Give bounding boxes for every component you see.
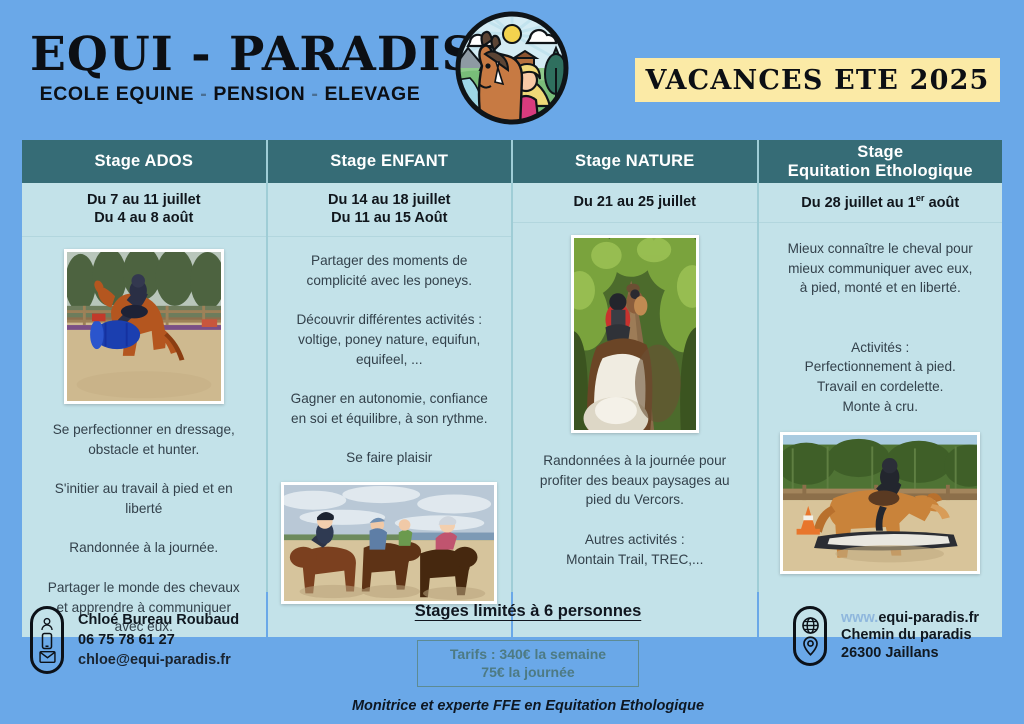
- photo-children-on-ponies: [281, 482, 497, 604]
- stage-column-enfant: Stage ENFANT Du 14 au 18 juillet Du 11 a…: [268, 140, 512, 637]
- column-body-ados: Se perfectionner en dressage, obstacle e…: [22, 237, 266, 637]
- brand-subtitle-part-2: PENSION: [213, 83, 305, 105]
- brand-subtitle: ECOLE EQUINE - PENSION - ELEVAGE: [30, 83, 430, 106]
- contact-block: Chloé Bureau Roubaud 06 75 78 61 27 chlo…: [30, 606, 239, 674]
- envelope-icon: [39, 650, 56, 664]
- column-header-line-2: Equitation Ethologique: [788, 162, 973, 180]
- column-body-enfant: Partager des moments de complicité avec …: [268, 237, 512, 637]
- tarif-box: Tarifs : 340€ la semaine 75€ la journée: [417, 640, 639, 687]
- globe-icon: [801, 616, 820, 635]
- season-banner-text: VACANCES ETE 2025: [645, 65, 989, 96]
- address-line-1: Chemin du paradis: [841, 626, 979, 644]
- contact-text-lines: Chloé Bureau Roubaud 06 75 78 61 27 chlo…: [78, 606, 239, 674]
- stages-table: Stage ADOS Du 7 au 11 juillet Du 4 au 8 …: [22, 140, 1002, 592]
- stage-column-ados: Stage ADOS Du 7 au 11 juillet Du 4 au 8 …: [22, 140, 266, 637]
- photo-forest-trail-ride: [571, 235, 699, 433]
- photo-jumping-blue-barrel: [64, 249, 224, 404]
- date-line: Du 28 juillet au 1er août: [763, 192, 999, 212]
- date-line: Du 21 au 25 juillet: [517, 193, 753, 211]
- column-header-enfant: Stage ENFANT: [268, 140, 512, 183]
- brand-title: EQUI - PARADIS: [30, 30, 430, 79]
- horse-and-girl-circular-logo: [452, 8, 572, 128]
- contact-name: Chloé Bureau Roubaud: [78, 613, 239, 628]
- address-line-2: 26300 Jaillans: [841, 644, 979, 662]
- brand-block: EQUI - PARADIS ECOLE EQUINE - PENSION - …: [30, 30, 430, 106]
- center-footer-block: Stages limités à 6 personnes Tarifs : 34…: [328, 602, 728, 714]
- column-header-ethologique: Stage Equitation Ethologique: [759, 140, 1003, 183]
- column-dates-ados: Du 7 au 11 juillet Du 4 au 8 août: [22, 183, 266, 237]
- column-text-ethologique: Mieux connaître le cheval pour mieux com…: [759, 239, 1003, 416]
- website-domain: equi-paradis.fr: [878, 610, 979, 626]
- map-pin-icon: [802, 636, 819, 656]
- contact-phone[interactable]: 06 75 78 61 27: [78, 633, 239, 648]
- brand-subtitle-part-1: ECOLE EQUINE: [40, 83, 195, 105]
- column-header-ados: Stage ADOS: [22, 140, 266, 183]
- page-footer: Chloé Bureau Roubaud 06 75 78 61 27 chlo…: [0, 592, 1024, 724]
- website-link[interactable]: www.equi-paradis.fr: [841, 610, 979, 626]
- brand-subtitle-part-3: ELEVAGE: [324, 83, 420, 105]
- page-header: EQUI - PARADIS ECOLE EQUINE - PENSION - …: [0, 0, 1024, 135]
- contact-icon-pill: [30, 606, 64, 674]
- mobile-phone-icon: [40, 632, 54, 650]
- date-line: Du 11 au 15 Août: [272, 209, 508, 227]
- column-dates-nature: Du 21 au 25 juillet: [513, 183, 757, 223]
- instructor-tagline: Monitrice et experte FFE en Equitation E…: [328, 698, 728, 714]
- column-dates-enfant: Du 14 au 18 juillet Du 11 au 15 Août: [268, 183, 512, 237]
- column-text-enfant: Partager des moments de complicité avec …: [268, 251, 512, 468]
- stage-column-ethologique: Stage Equitation Ethologique Du 28 juill…: [759, 140, 1003, 637]
- season-banner: VACANCES ETE 2025: [635, 58, 1000, 102]
- stage-column-nature: Stage NATURE Du 21 au 25 juillet: [513, 140, 757, 637]
- column-header-nature: Stage NATURE: [513, 140, 757, 183]
- date-line: Du 7 au 11 juillet: [26, 191, 262, 209]
- location-block: www.equi-paradis.fr Chemin du paradis 26…: [793, 606, 979, 666]
- contact-email[interactable]: chloe@equi-paradis.fr: [78, 653, 239, 668]
- location-text-lines: www.equi-paradis.fr Chemin du paradis 26…: [841, 606, 979, 666]
- column-body-nature: Randonnées à la journée pour profiter de…: [513, 223, 757, 637]
- column-body-ethologique: Mieux connaître le cheval pour mieux com…: [759, 223, 1003, 637]
- column-dates-ethologique: Du 28 juillet au 1er août: [759, 183, 1003, 223]
- website-prefix: www.: [841, 610, 878, 626]
- brand-subtitle-separator: -: [311, 83, 318, 105]
- date-line: Du 4 au 8 août: [26, 209, 262, 227]
- column-text-nature: Randonnées à la journée pour profiter de…: [513, 451, 757, 569]
- address: Chemin du paradis 26300 Jaillans: [841, 626, 979, 662]
- brand-subtitle-separator: -: [200, 83, 207, 105]
- location-icon-pill: [793, 606, 827, 666]
- photo-horse-crossing-tarp: [780, 432, 980, 574]
- person-icon: [39, 616, 55, 632]
- group-size-note: Stages limités à 6 personnes: [328, 602, 728, 621]
- column-header-line-1: Stage: [857, 143, 903, 161]
- date-line: Du 14 au 18 juillet: [272, 191, 508, 209]
